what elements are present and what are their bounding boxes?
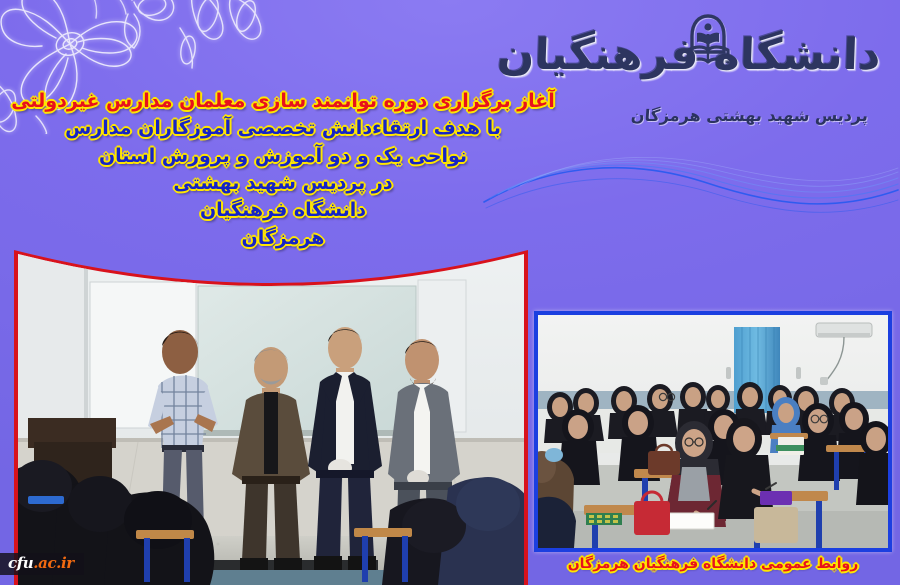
watermark-primary: cfu — [8, 554, 33, 572]
headline-line-1: آغاز برگزاری دوره توانمند سازی معلمان مد… — [0, 88, 566, 115]
university-logo: دانشگاه فرهنگیان پردیس شهید بهشتی هرمزگا… — [622, 8, 882, 140]
secondary-photo-image — [538, 315, 888, 548]
main-photo-image — [18, 242, 524, 585]
headline-line-5: دانشگاه فرهنگیان — [0, 197, 566, 224]
watermark-secondary: .ac.ir — [33, 554, 74, 572]
university-name: دانشگاه فرهنگیان — [625, 34, 882, 77]
headline-line-4: در پردیس شهید بهشتی — [0, 170, 566, 197]
main-photo — [14, 238, 528, 585]
campus-name: پردیس شهید بهشتی هرمزگان — [631, 108, 868, 124]
headline-line-2: با هدف ارتقاءدانش تخصصی آموزگاران مدارس — [0, 115, 566, 142]
site-watermark: cfu.ac.ir — [0, 553, 84, 575]
secondary-photo — [534, 311, 892, 552]
headline-block: آغاز برگزاری دوره توانمند سازی معلمان مد… — [0, 88, 566, 252]
public-relations-credit: روابط عمومی دانشگاه فرهنگیان هرمزگان — [534, 556, 892, 572]
headline-line-3: نواحی یک و دو آموزش و پرورش استان — [0, 143, 566, 170]
event-poster: دانشگاه فرهنگیان پردیس شهید بهشتی هرمزگا… — [0, 0, 900, 585]
